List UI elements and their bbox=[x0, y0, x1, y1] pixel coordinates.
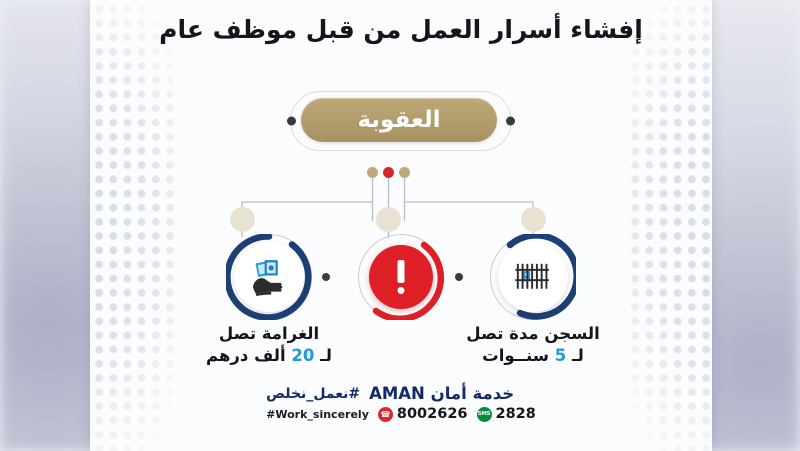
aman-service-name: خدمة أمان AMAN bbox=[369, 384, 514, 403]
caption-prison-amount: 5 bbox=[555, 346, 566, 365]
caption-fine-line1: الغرامة تصل bbox=[174, 323, 364, 345]
sms-icon: SMS bbox=[477, 407, 492, 422]
node-fine[interactable] bbox=[226, 234, 312, 320]
pin-dot-gold-right-icon bbox=[399, 167, 410, 178]
page-title: إفشاء أسرار العمل من قبل موظف عام bbox=[90, 14, 712, 45]
separator-dot-left-icon bbox=[322, 273, 330, 281]
hashtag-english: #Work_sincerely bbox=[266, 408, 369, 421]
caption-fine-prefix: لـ bbox=[320, 346, 332, 365]
caption-prison: السجن مدة تصل لـ 5 سنــوات bbox=[438, 323, 628, 367]
infographic-canvas: إفشاء أسرار العمل من قبل موظف عام العقوب… bbox=[0, 0, 800, 451]
exclamation-circle-icon bbox=[366, 242, 436, 312]
pin-dot-gold-left-icon bbox=[367, 167, 378, 178]
footer: خدمة أمان AMAN #نعمل_نخلص SMS 2828 ☎ 800… bbox=[90, 384, 712, 422]
prison-bars-icon bbox=[498, 242, 568, 312]
badge-label: العقوبة bbox=[357, 107, 440, 133]
caption-prison-line1: السجن مدة تصل bbox=[438, 323, 628, 345]
phone-icon: ☎ bbox=[378, 407, 393, 422]
footer-bottom-row: SMS 2828 ☎ 8002626 #Work_sincerely bbox=[266, 406, 536, 422]
sms-contact[interactable]: SMS 2828 bbox=[477, 406, 536, 422]
caption-fine-amount: 20 bbox=[291, 346, 314, 365]
junction-blob-right bbox=[521, 207, 546, 232]
caption-prison-suffix: سنــوات bbox=[482, 346, 549, 365]
caption-fine-line2: لـ 20 ألف درهم bbox=[174, 345, 364, 367]
caption-prison-prefix: لـ bbox=[572, 346, 584, 365]
node-prison[interactable] bbox=[490, 234, 576, 320]
hand-holding-money-icon bbox=[234, 242, 304, 312]
badge-dot-left-icon bbox=[287, 117, 296, 126]
sms-number: 2828 bbox=[496, 406, 536, 422]
phone-number: 8002626 bbox=[397, 406, 468, 422]
junction-blob-center bbox=[376, 207, 401, 232]
caption-fine-suffix: ألف درهم bbox=[206, 346, 286, 365]
pin-dot-red-icon bbox=[383, 167, 394, 178]
badge-dot-right-icon bbox=[506, 117, 515, 126]
junction-blob-left bbox=[230, 207, 255, 232]
penalty-badge: العقوبة bbox=[290, 91, 512, 151]
hashtag-arabic: #نعمل_نخلص bbox=[266, 386, 360, 402]
caption-prison-line2: لـ 5 سنــوات bbox=[438, 345, 628, 367]
footer-column: خدمة أمان AMAN #نعمل_نخلص SMS 2828 ☎ 800… bbox=[266, 384, 536, 422]
separator-dot-right-icon bbox=[455, 273, 463, 281]
phone-contact[interactable]: ☎ 8002626 bbox=[378, 406, 468, 422]
node-warning[interactable] bbox=[358, 234, 444, 320]
infographic-card: إفشاء أسرار العمل من قبل موظف عام العقوب… bbox=[90, 0, 712, 451]
badge-plate: العقوبة bbox=[301, 98, 497, 142]
footer-top-row: خدمة أمان AMAN #نعمل_نخلص bbox=[266, 384, 514, 403]
caption-fine: الغرامة تصل لـ 20 ألف درهم bbox=[174, 323, 364, 367]
